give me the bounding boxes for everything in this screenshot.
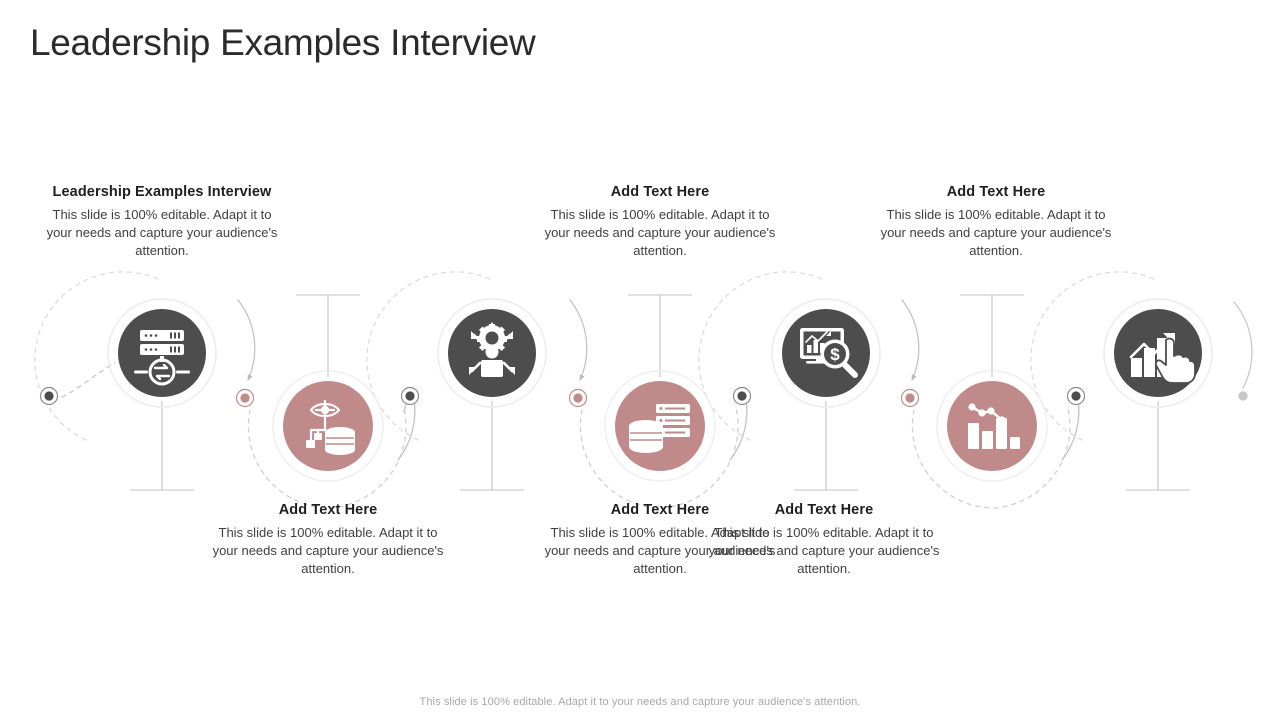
step-title-2: Add Text Here	[208, 501, 448, 519]
database-stack	[325, 427, 355, 455]
step-body-3: This slide is 100% editable. Adapt it to…	[540, 206, 780, 260]
zigzag-infographic: $	[0, 90, 1280, 660]
step-node-3[interactable]	[438, 299, 546, 407]
flow-dot-end	[1238, 391, 1247, 400]
step-node-2[interactable]	[273, 371, 383, 481]
step-title-3: Add Text Here	[540, 183, 780, 201]
step-text-1: Leadership Examples Interview This slide…	[42, 183, 282, 260]
flow-dot-dark-2	[402, 388, 419, 405]
step-text-2: Add Text Here This slide is 100% editabl…	[208, 501, 448, 578]
step-text-3: Add Text Here This slide is 100% editabl…	[540, 183, 780, 260]
footer-note: This slide is 100% editable. Adapt it to…	[0, 696, 1280, 708]
flow-dot-rose-5	[902, 390, 919, 407]
step-text-5: Add Text Here This slide is 100% editabl…	[876, 183, 1116, 260]
step-node-6[interactable]	[937, 371, 1047, 481]
step-node-7[interactable]	[1104, 299, 1212, 407]
step-body-1: This slide is 100% editable. Adapt it to…	[42, 206, 282, 260]
page-title: Leadership Examples Interview	[30, 20, 535, 66]
flow-dot-rose-1	[237, 390, 254, 407]
step-body-5: This slide is 100% editable. Adapt it to…	[876, 206, 1116, 260]
slide-canvas: Leadership Examples Interview	[0, 0, 1280, 720]
step-title-1: Leadership Examples Interview	[42, 183, 282, 201]
step-title-5: Add Text Here	[876, 183, 1116, 201]
step-body-6: This slide is 100% editable. Adapt it to…	[704, 524, 944, 578]
step-body-2: This slide is 100% editable. Adapt it to…	[208, 524, 448, 578]
flow-dot-dark-6	[1068, 388, 1085, 405]
flow-dot-dark-4	[734, 388, 751, 405]
step-node-4[interactable]	[605, 371, 715, 481]
step-node-5[interactable]: $	[772, 299, 880, 407]
step-text-6: Add Text Here This slide is 100% editabl…	[704, 501, 944, 578]
step-title-6: Add Text Here	[704, 501, 944, 519]
flow-dot-rose-3	[570, 390, 587, 407]
step-node-1[interactable]	[108, 299, 216, 407]
flow-dot-start	[41, 388, 58, 405]
svg-text:$: $	[830, 345, 840, 364]
